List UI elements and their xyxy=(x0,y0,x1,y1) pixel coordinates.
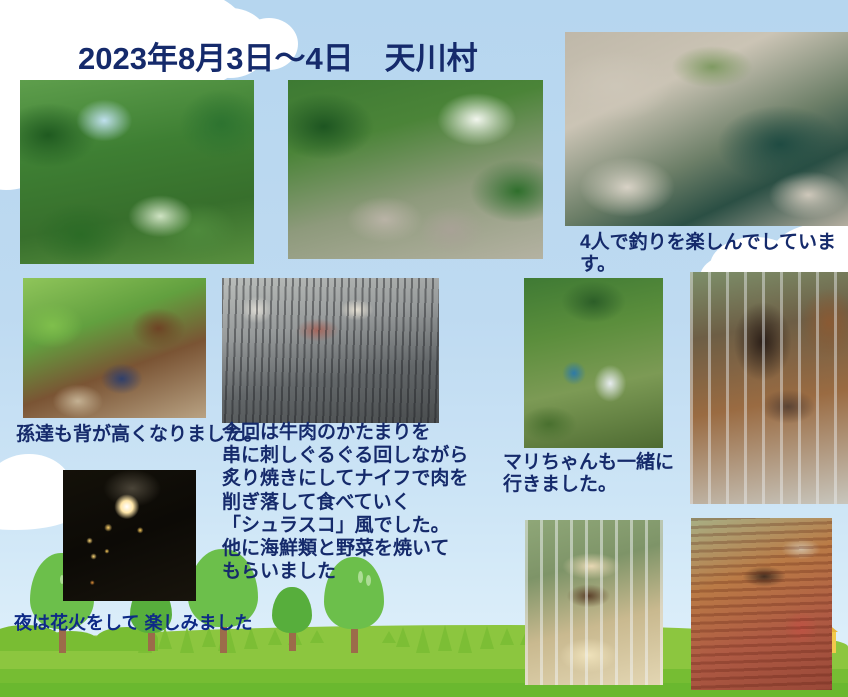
grass-tuft xyxy=(458,627,472,653)
grass-tuft xyxy=(500,628,514,645)
photo-river-fishing xyxy=(565,32,848,226)
page-title: 2023年8月3日～4日 天川村 xyxy=(78,33,478,78)
caption-mari: マリちゃんも一緒に 行きました。 xyxy=(503,452,674,497)
grass-tuft xyxy=(438,625,452,651)
grass-tuft xyxy=(310,630,324,643)
photo-girl-with-cage xyxy=(524,278,663,448)
photo-forest-river xyxy=(20,80,254,264)
grass-tuft xyxy=(416,627,430,653)
photo-family-cabin xyxy=(23,278,206,418)
photo-collage-page: 2023年8月3日～4日 天川村 4人で釣りを楽しんでしています。 孫達も背が高… xyxy=(0,0,848,697)
caption-fireworks: 夜は花火をして 楽しみました xyxy=(14,613,252,634)
photo-grill-table xyxy=(222,278,439,423)
photo-chipmunk-in-cage xyxy=(525,520,663,685)
photo-squirrel-on-cage xyxy=(690,272,848,504)
grass-tuft xyxy=(480,626,494,649)
grass-tuft xyxy=(396,627,410,647)
grass-tuft xyxy=(382,631,396,643)
caption-barbecue: 今回は牛肉のかたまりを 串に刺しぐるぐる回しながら 炙り焼きにしてナイフで肉を … xyxy=(222,421,468,583)
tree xyxy=(272,587,312,651)
photo-rocky-gorge xyxy=(288,80,543,259)
caption-fishing: 4人で釣りを楽しんでしています。 xyxy=(580,232,848,277)
photo-fireworks-night xyxy=(63,470,196,601)
photo-chipmunk-on-wheel xyxy=(691,518,832,690)
